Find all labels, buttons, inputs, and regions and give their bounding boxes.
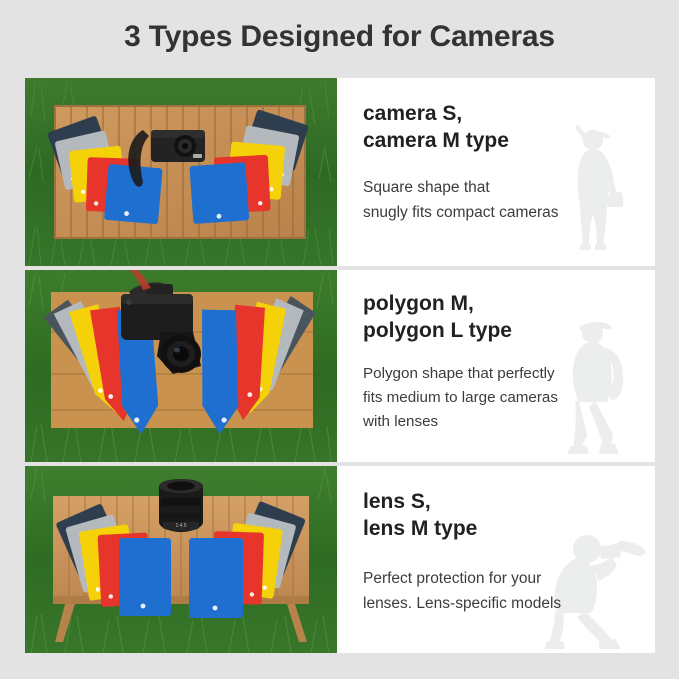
text-camera-s-m: camera S, camera M type Square shape tha…	[337, 78, 655, 266]
photo-polygon-m-l-svg	[25, 270, 337, 462]
product-infographic: 3 Types Designed for Cameras	[0, 0, 679, 679]
svg-text:1:4.5: 1:4.5	[175, 523, 186, 529]
photo-camera-s-m	[25, 78, 337, 266]
text-lens-s-m: lens S, lens M type Perfect protection f…	[337, 466, 655, 653]
section-description: Square shape that snugly fits compact ca…	[363, 175, 559, 225]
photo-lens-s-m: 1:4.5	[25, 466, 337, 653]
photo-lens-s-m-svg: 1:4.5	[25, 466, 337, 653]
page-title: 3 Types Designed for Cameras	[0, 20, 679, 54]
types-card: camera S, camera M type Square shape tha…	[25, 78, 655, 653]
hiker-with-backpack-icon	[555, 310, 641, 460]
type-row-lens: 1:4.5	[25, 466, 655, 653]
section-description: Polygon shape that perfectly fits medium…	[363, 362, 558, 434]
section-description: Perfect protection for your lenses. Lens…	[363, 566, 561, 616]
section-title: lens S, lens M type	[363, 488, 477, 542]
camera-lens: 1:4.5	[159, 479, 203, 532]
type-row-polygon: polygon M, polygon L type Polygon shape …	[25, 270, 655, 462]
text-polygon-m-l: polygon M, polygon L type Polygon shape …	[337, 270, 655, 462]
photo-camera-s-m-svg	[25, 78, 337, 266]
type-row-camera: camera S, camera M type Square shape tha…	[25, 78, 655, 266]
woman-with-compact-camera-icon	[559, 120, 637, 260]
section-title: camera S, camera M type	[363, 100, 509, 154]
photo-polygon-m-l	[25, 270, 337, 462]
section-title: polygon M, polygon L type	[363, 290, 512, 344]
